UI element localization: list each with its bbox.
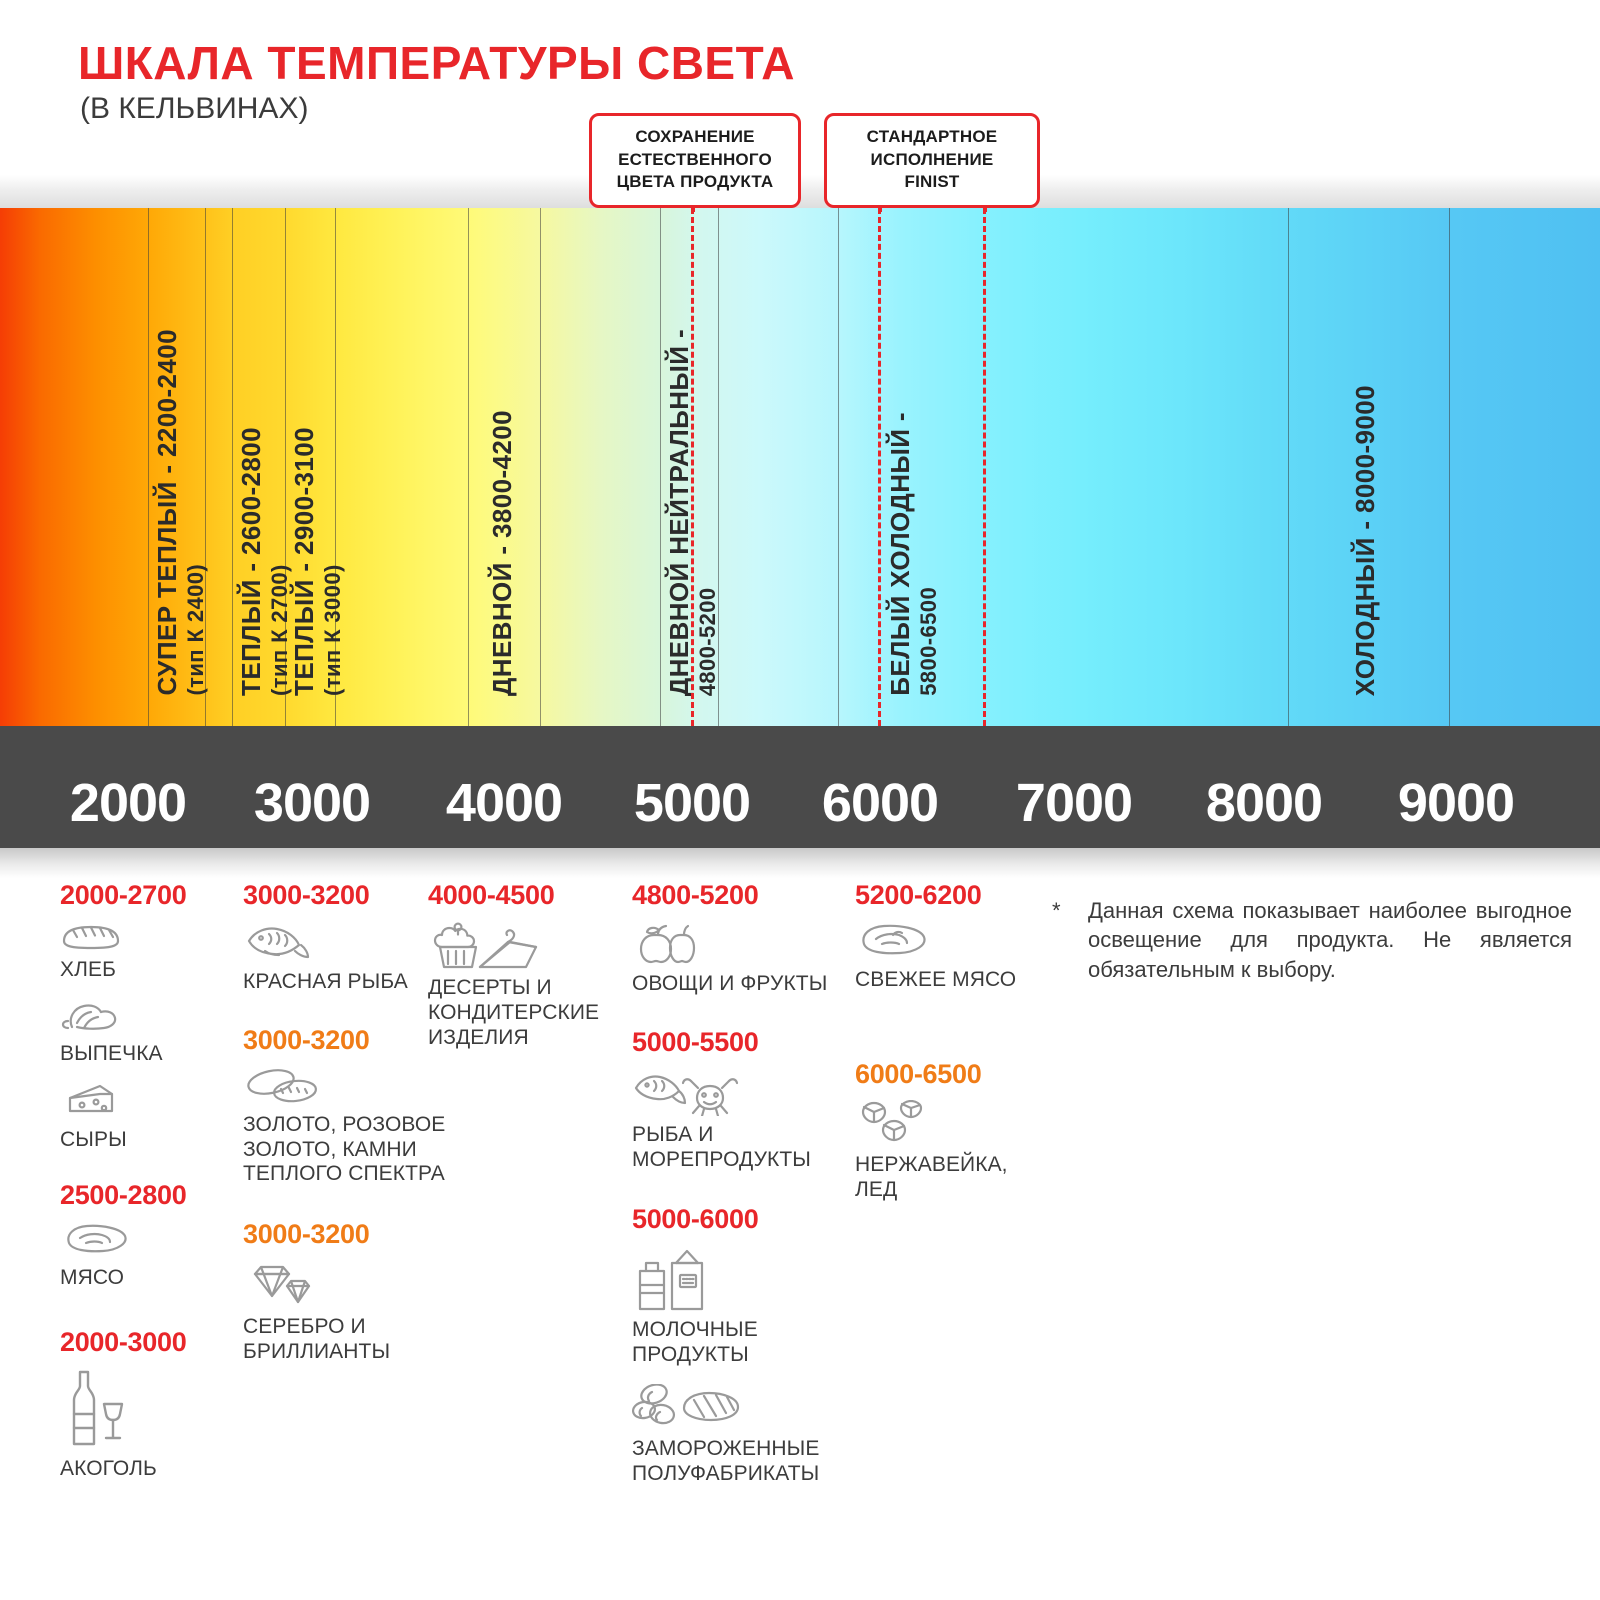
band-divider bbox=[148, 208, 149, 726]
band-label-white-cold: БЕЛЫЙ ХОЛОДНЫЙ - 5800-6500 bbox=[885, 412, 942, 696]
band-divider bbox=[838, 208, 839, 726]
legend-item: РЫБА И МОРЕПРОДУКТЫ bbox=[632, 1068, 862, 1173]
legend-item: ДЕСЕРТЫ И КОНДИТЕРСКИЕ ИЗДЕЛИЯ bbox=[428, 921, 628, 1050]
legend-item: СВЕЖЕЕ МЯСО bbox=[855, 921, 1045, 993]
legend-item: МЯСО bbox=[60, 1221, 240, 1291]
page-title: ШКАЛА ТЕМПЕРАТУРЫ СВЕТА bbox=[78, 36, 795, 90]
legend-column-4: 4800-5200 ОВОЩИ И ФРУКТЫ 5000-5500 РЫБА … bbox=[632, 880, 862, 1500]
legend-group: 2500-2800 МЯСО bbox=[60, 1180, 240, 1291]
legend-group: 4000-4500 ДЕСЕРТЫ И КОНДИТЕРСКИЕ ИЗДЕЛИЯ bbox=[428, 880, 628, 1050]
legend-item-label: ДЕСЕРТЫ И КОНДИТЕРСКИЕ ИЗДЕЛИЯ bbox=[428, 976, 628, 1050]
fresh-meat-icon bbox=[855, 921, 1045, 966]
legend-item-label: НЕРЖАВЕЙКА, ЛЕД bbox=[855, 1153, 1045, 1203]
footnote: * Данная схема показывает наиболее выгод… bbox=[1052, 896, 1572, 984]
legend-range: 3000-3200 bbox=[243, 1219, 493, 1250]
band-label-daylight: ДНЕВНОЙ - 3800-4200 bbox=[487, 410, 518, 696]
callout-line-3: FINIST bbox=[835, 171, 1029, 194]
scale-tick-5000: 5000 bbox=[592, 772, 792, 834]
band-label-warm-2700: ТЕПЛЫЙ - 2600-2800 (тип К 2700) bbox=[236, 427, 293, 696]
callout-standard-finist: СТАНДАРТНОЕ ИСПОЛНЕНИЕ FINIST bbox=[824, 113, 1040, 208]
legend-group: 2000-2700 ХЛЕБ ВЫПЕЧКА СЫРЫ bbox=[60, 880, 240, 1152]
callout-line-1: СОХРАНЕНИЕ bbox=[600, 126, 790, 149]
scale-tick-9000: 9000 bbox=[1356, 772, 1556, 834]
legend-range: 5000-6000 bbox=[632, 1204, 862, 1235]
scale-tick-4000: 4000 bbox=[404, 772, 604, 834]
footnote-star: * bbox=[1052, 896, 1061, 925]
legend-item: ОВОЩИ И ФРУКТЫ bbox=[632, 921, 862, 997]
bread-icon bbox=[60, 921, 240, 956]
legend-item-label: АКОГОЛЬ bbox=[60, 1457, 240, 1482]
dashed-marker-natural bbox=[691, 208, 694, 726]
band-label-warm-3000: ТЕПЛЫЙ - 2900-3100 (тип К 3000) bbox=[289, 427, 346, 696]
legend-column-1: 2000-2700 ХЛЕБ ВЫПЕЧКА СЫРЫ 25 bbox=[60, 880, 240, 1496]
legend-range: 5000-5500 bbox=[632, 1027, 862, 1058]
legend-item: МОЛОЧНЫЕ ПРОДУКТЫ bbox=[632, 1245, 862, 1368]
scale-tick-6000: 6000 bbox=[780, 772, 980, 834]
legend-item-label: МЯСО bbox=[60, 1266, 240, 1291]
legend-group: 5200-6200 СВЕЖЕЕ МЯСО bbox=[855, 880, 1045, 993]
band-divider bbox=[1449, 208, 1450, 726]
legend-item-label: СЕРЕБРО И БРИЛЛИАНТЫ bbox=[243, 1315, 493, 1365]
legend: 2000-2700 ХЛЕБ ВЫПЕЧКА СЫРЫ 25 bbox=[0, 880, 1600, 1600]
legend-item: ВЫПЕЧКА bbox=[60, 997, 240, 1067]
legend-range: 4800-5200 bbox=[632, 880, 862, 911]
rings-icon bbox=[243, 1066, 493, 1111]
band-label-super-warm: СУПЕР ТЕПЛЫЙ - 2200-2400 (тип К 2400) bbox=[152, 329, 209, 696]
legend-range: 2500-2800 bbox=[60, 1180, 240, 1211]
page-subtitle: (В КЕЛЬВИНАХ) bbox=[80, 92, 308, 126]
cake-icon bbox=[428, 921, 628, 974]
legend-item: АКОГОЛЬ bbox=[60, 1368, 240, 1482]
legend-group: 5000-6000 МОЛОЧНЫЕ ПРОДУКТЫ ЗАМОРОЖЕННЫЕ… bbox=[632, 1204, 862, 1486]
legend-item-label: МОЛОЧНЫЕ ПРОДУКТЫ bbox=[632, 1318, 862, 1368]
diamond-icon bbox=[243, 1260, 493, 1313]
legend-item: ЗОЛОТО, РОЗОВОЕ ЗОЛОТО, КАМНИ ТЕПЛОГО СП… bbox=[243, 1066, 493, 1187]
band-label-cold: ХОЛОДНЫЙ - 8000-9000 bbox=[1350, 385, 1381, 696]
legend-item: ХЛЕБ bbox=[60, 921, 240, 983]
dashed-marker-standard-left bbox=[878, 208, 881, 726]
dashed-marker-standard-right bbox=[983, 208, 986, 726]
seafood-icon bbox=[632, 1068, 862, 1121]
legend-item-label: РЫБА И МОРЕПРОДУКТЫ bbox=[632, 1123, 862, 1173]
bottle-glass-icon bbox=[60, 1368, 240, 1455]
band-divider bbox=[468, 208, 469, 726]
callout-line-2: ЕСТЕСТВЕННОГО bbox=[600, 149, 790, 172]
scale-tick-7000: 7000 bbox=[974, 772, 1174, 834]
legend-item: СЕРЕБРО И БРИЛЛИАНТЫ bbox=[243, 1260, 493, 1365]
footnote-text: Данная схема показывает наиболее выгодно… bbox=[1088, 896, 1572, 984]
vegetables-icon bbox=[632, 921, 862, 970]
steak-icon bbox=[60, 1221, 240, 1264]
legend-range: 2000-2700 bbox=[60, 880, 240, 911]
legend-group: 2000-3000 АКОГОЛЬ bbox=[60, 1327, 240, 1482]
scale-bottom-shadow bbox=[0, 848, 1600, 878]
legend-item: СЫРЫ bbox=[60, 1081, 240, 1153]
legend-item-label: ЗАМОРОЖЕННЫЕ ПОЛУФАБРИКАТЫ bbox=[632, 1437, 862, 1487]
callout-natural-color: СОХРАНЕНИЕ ЕСТЕСТВЕННОГО ЦВЕТА ПРОДУКТА bbox=[589, 113, 801, 208]
legend-group: 4800-5200 ОВОЩИ И ФРУКТЫ bbox=[632, 880, 862, 997]
legend-item-label: СЫРЫ bbox=[60, 1128, 240, 1153]
band-divider bbox=[1288, 208, 1289, 726]
legend-item-label: ОВОЩИ И ФРУКТЫ bbox=[632, 972, 862, 997]
croissant-icon bbox=[60, 997, 240, 1040]
band-divider bbox=[660, 208, 661, 726]
scale-tick-3000: 3000 bbox=[212, 772, 412, 834]
legend-item-label: ЗОЛОТО, РОЗОВОЕ ЗОЛОТО, КАМНИ ТЕПЛОГО СП… bbox=[243, 1113, 493, 1187]
legend-column-5: 5200-6200 СВЕЖЕЕ МЯСО 6000-6500 НЕРЖАВЕЙ… bbox=[855, 880, 1045, 1216]
band-divider bbox=[232, 208, 233, 726]
scale-tick-8000: 8000 bbox=[1164, 772, 1364, 834]
legend-item-label: СВЕЖЕЕ МЯСО bbox=[855, 968, 1045, 993]
callout-line-3: ЦВЕТА ПРОДУКТА bbox=[600, 171, 790, 194]
milk-icon bbox=[632, 1245, 862, 1316]
legend-item: ЗАМОРОЖЕННЫЕ ПОЛУФАБРИКАТЫ bbox=[632, 1384, 862, 1487]
legend-item-label: ВЫПЕЧКА bbox=[60, 1042, 240, 1067]
kelvin-gradient-scale: СУПЕР ТЕПЛЫЙ - 2200-2400 (тип К 2400) ТЕ… bbox=[0, 208, 1600, 726]
legend-range: 2000-3000 bbox=[60, 1327, 240, 1358]
legend-item-label: ХЛЕБ bbox=[60, 958, 240, 983]
legend-group: 5000-5500 РЫБА И МОРЕПРОДУКТЫ bbox=[632, 1027, 862, 1173]
legend-range: 5200-6200 bbox=[855, 880, 1045, 911]
scale-tick-2000: 2000 bbox=[28, 772, 228, 834]
band-divider bbox=[540, 208, 541, 726]
cheese-icon bbox=[60, 1081, 240, 1126]
legend-range: 6000-6500 bbox=[855, 1059, 1045, 1090]
legend-column-3: 4000-4500 ДЕСЕРТЫ И КОНДИТЕРСКИЕ ИЗДЕЛИЯ bbox=[428, 880, 628, 1064]
legend-group: 3000-3200 СЕРЕБРО И БРИЛЛИАНТЫ bbox=[243, 1219, 493, 1365]
legend-group: 6000-6500 НЕРЖАВЕЙКА, ЛЕД bbox=[855, 1059, 1045, 1203]
callout-line-2: ИСПОЛНЕНИЕ bbox=[835, 149, 1029, 172]
ice-cubes-icon bbox=[855, 1100, 1045, 1151]
legend-range: 4000-4500 bbox=[428, 880, 628, 911]
callout-line-1: СТАНДАРТНОЕ bbox=[835, 126, 1029, 149]
frozen-food-icon bbox=[632, 1384, 862, 1435]
legend-item: НЕРЖАВЕЙКА, ЛЕД bbox=[855, 1100, 1045, 1203]
